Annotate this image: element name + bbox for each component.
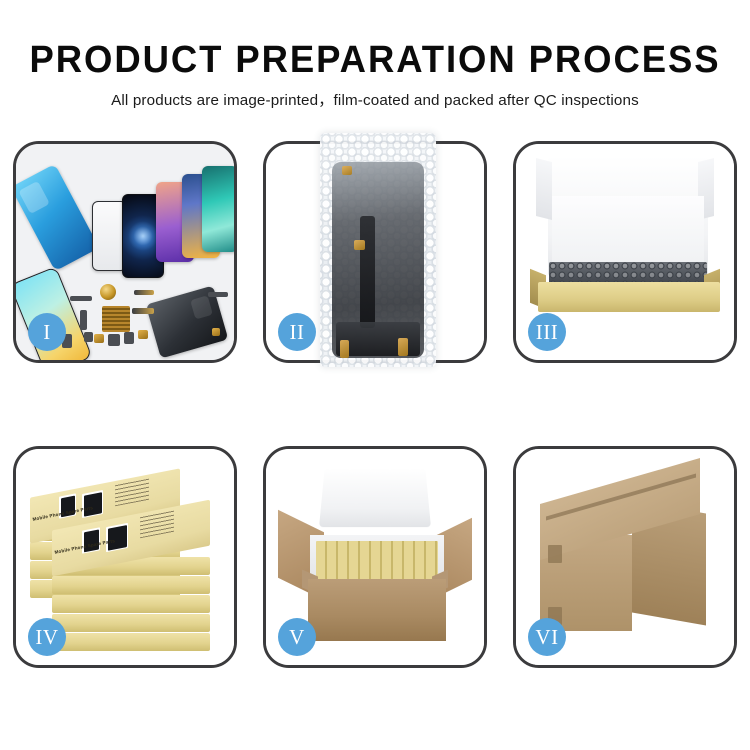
process-step-panel-5: V [263,446,487,668]
process-step-panel-6: VI [513,446,737,668]
phone-teal-icon [202,166,234,252]
step-badge-4: IV [28,618,66,656]
connector-tab-mid-icon [354,240,365,250]
connector-tab-top-icon [342,166,352,175]
retail-box-rear-window-2 [82,490,103,518]
process-step-grid: I II [13,141,737,681]
antenna-clip-icon [138,330,148,339]
product-preparation-process-page: PRODUCT PREPARATION PROCESS All products… [0,0,750,750]
step-badge-2: II [278,313,316,351]
screw-tray-icon [102,306,130,332]
vibrator-motor-icon [94,334,104,343]
step-badge-3: III [528,313,566,351]
wrapped-screen-panel-icon [332,162,424,358]
carton-retail-boxes-icon [316,541,438,579]
connector-tab-left-icon [340,340,349,358]
carton-foam-lid-icon [319,468,431,527]
screw-icon [212,328,220,336]
retail-box-front-2 [52,576,210,594]
retail-box-front-5 [52,633,210,651]
step-badge-6: VI [528,618,566,656]
camera-module-icon [84,332,93,342]
wrapped-screen-base-icon [336,322,420,356]
screwdriver-icon [208,292,228,297]
connector-tab-right-icon [398,338,408,356]
flex-cable-2-icon [132,308,154,314]
process-step-panel-3: III [513,141,737,363]
retail-box-front-4 [52,614,210,632]
side-button-icon [80,310,87,330]
page-title: PRODUCT PREPARATION PROCESS [15,41,735,79]
carton-body-icon [308,579,446,641]
process-step-panel-2: II [263,141,487,363]
earpiece-mesh-icon [70,296,92,301]
sealed-carton-tape-upper-icon [548,545,562,563]
foam-lid-flap-left-icon [536,158,552,220]
speaker-module-icon [100,284,116,300]
page-subtitle: All products are image-printed，film-coat… [0,93,750,110]
sim-tray-icon [124,332,134,344]
retail-box-front-3 [52,595,210,613]
step-badge-5: V [278,618,316,656]
page-header: PRODUCT PREPARATION PROCESS All products… [0,0,750,110]
flex-cable-icon [134,290,154,295]
kraft-box-front-icon [538,282,720,312]
small-connector-icon [108,334,120,346]
process-step-panel-4: Mobile Phone Spare Parts Mobile Phone Sp… [13,446,237,668]
process-step-panel-1: I [13,141,237,363]
wrapped-flex-strip-icon [360,216,375,328]
step-badge-1: I [28,313,66,351]
phone-back-cover-blue-icon [16,164,99,271]
bubble-wrap-sheet-icon [320,133,436,367]
retail-box-front-window-2 [106,523,128,552]
